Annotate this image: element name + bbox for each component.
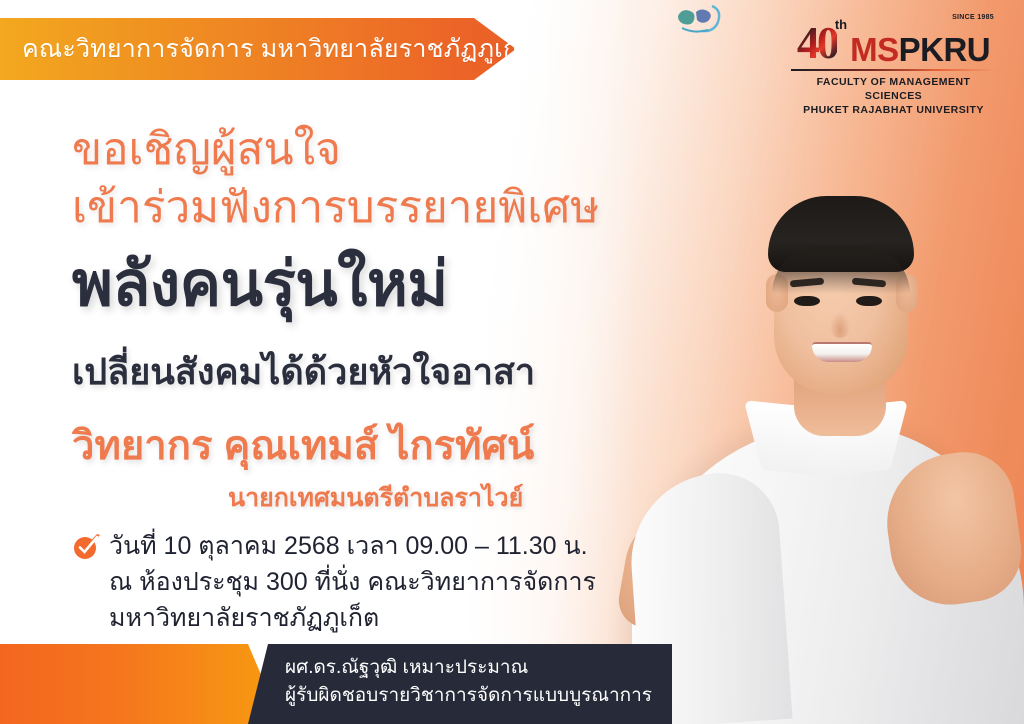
logo-since-text: SINCE 1985 <box>952 14 994 21</box>
speaker-name: วิทยากร คุณเทมส์ ไกรทัศน์ <box>72 424 534 468</box>
logo-anniversary-suffix: th <box>835 18 847 31</box>
logo-abbr-pkru: PKRU <box>899 33 991 66</box>
check-badge-icon <box>73 533 101 561</box>
footer-text: ผศ.ดร.ณัฐวุฒิ เหมาะประมาณ ผู้รับผิดชอบรา… <box>285 654 652 710</box>
event-details-text: วันที่ 10 ตุลาคม 2568 เวลา 09.00 – 11.30… <box>109 528 596 636</box>
invitation-line-1: ขอเชิญผู้สนใจ <box>72 120 599 180</box>
page-subtitle: เปลี่ยนสังคมได้ด้วยหัวใจอาสา <box>72 352 535 392</box>
footer-organizer-name: ผศ.ดร.ณัฐวุฒิ เหมาะประมาณ <box>285 654 652 682</box>
invitation-block: ขอเชิญผู้สนใจ เข้าร่วมฟังการบรรยายพิเศษ <box>72 120 599 239</box>
invitation-line-2: เข้าร่วมฟังการบรรยายพิเศษ <box>72 178 599 238</box>
event-detail-line-2: ณ ห้องประชุม 300 ที่นั่ง คณะวิทยาการจัดก… <box>109 564 596 600</box>
event-poster: คณะวิทยาการจัดการ มหาวิทยาลัยราชภัฏภูเก็… <box>0 0 1024 724</box>
mspkru-logo: 40 th MS PKRU SINCE 1985 FACULTY OF MANA… <box>791 16 996 118</box>
event-detail-line-3: มหาวิทยาลัยราชภัฏภูเก็ต <box>109 600 596 636</box>
event-details: วันที่ 10 ตุลาคม 2568 เวลา 09.00 – 11.30… <box>73 528 596 636</box>
poster-content: ขอเชิญผู้สนใจ เข้าร่วมฟังการบรรยายพิเศษ … <box>0 0 700 724</box>
logo-divider <box>791 69 996 71</box>
footer-organizer-role: ผู้รับผิดชอบรายวิชาการจัดการแบบบูรณาการ <box>285 682 652 710</box>
speaker-role: นายกเทศมนตรีตำบลราไวย์ <box>228 478 523 518</box>
logo-faculty-line: FACULTY OF MANAGEMENT SCIENCES <box>791 75 996 103</box>
logo-anniversary-number: 40 <box>797 20 837 66</box>
logo-wordmark: 40 th MS PKRU SINCE 1985 <box>791 16 996 66</box>
logo-abbr-ms: MS <box>850 33 899 66</box>
logo-university-line: PHUKET RAJABHAT UNIVERSITY <box>791 103 996 117</box>
event-detail-line-1: วันที่ 10 ตุลาคม 2568 เวลา 09.00 – 11.30… <box>109 528 596 564</box>
page-title: พลังคนรุ่นใหม่ <box>72 253 448 317</box>
